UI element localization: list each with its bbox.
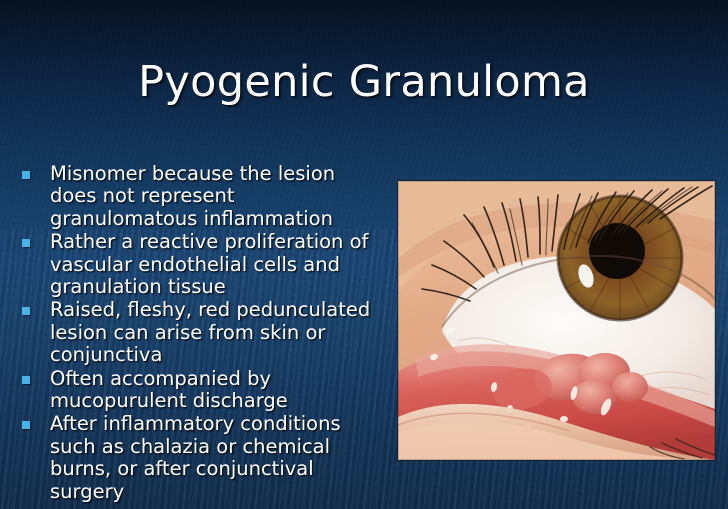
bullet-square-icon	[22, 376, 30, 384]
list-item: Raised, fleshy, red pedunculated lesion …	[22, 299, 384, 366]
list-item-text: Rather a reactive proliferation of vascu…	[50, 231, 384, 298]
bullet-square-icon	[22, 239, 30, 247]
eye-photo-illustration	[398, 181, 715, 460]
bullet-square-icon	[22, 307, 30, 315]
list-item-text: Often accompanied by mucopurulent discha…	[50, 368, 384, 413]
list-item-text: After inflammatory conditions such as ch…	[50, 413, 384, 503]
slide: Pyogenic Granuloma Misnomer because the …	[0, 0, 728, 509]
list-item: Rather a reactive proliferation of vascu…	[22, 231, 384, 298]
clinical-photo	[398, 181, 715, 460]
list-item: Misnomer because the lesion does not rep…	[22, 163, 384, 230]
list-item-text: Raised, fleshy, red pedunculated lesion …	[50, 299, 384, 366]
bullet-square-icon	[22, 171, 30, 179]
list-item-text: Misnomer because the lesion does not rep…	[50, 163, 384, 230]
list-item: After inflammatory conditions such as ch…	[22, 413, 384, 503]
bullet-list: Misnomer because the lesion does not rep…	[22, 163, 384, 504]
bullet-square-icon	[22, 421, 30, 429]
list-item: Often accompanied by mucopurulent discha…	[22, 368, 384, 413]
page-title: Pyogenic Granuloma	[0, 56, 728, 108]
